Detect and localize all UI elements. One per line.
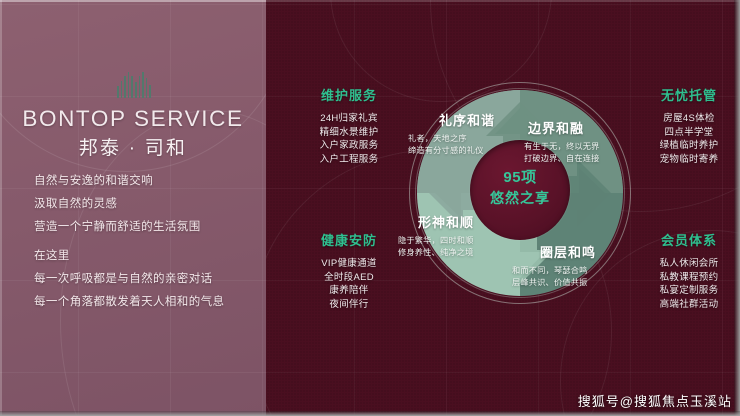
watermark: 搜狐号@搜狐焦点玉溪站 bbox=[578, 391, 732, 410]
quadrant-boundary-fusion: 边界和融 有生于无，终以无界 打破边界、自在连接 bbox=[524, 118, 644, 165]
service-item: 入户家政服务 bbox=[290, 139, 408, 153]
service-item: 入户工程服务 bbox=[290, 153, 408, 167]
service-block-maintenance: 维护服务 24H归家礼宾 精细水景维护 入户家政服务 入户工程服务 bbox=[290, 85, 408, 166]
service-item: 私教课程预约 bbox=[630, 271, 740, 285]
service-title: 无忧托管 bbox=[630, 85, 740, 104]
service-block-health-security: 健康安防 VIP健康通道 全时段AED 康养陪伴 夜间伴行 bbox=[290, 230, 408, 311]
quadrant-subtitle: 缔造有分寸感的礼仪 bbox=[408, 145, 526, 157]
service-item: 私宴定制服务 bbox=[630, 284, 740, 298]
service-block-membership: 会员体系 私人休闲会所 私教课程预约 私宴定制服务 高端社群活动 bbox=[630, 230, 740, 311]
service-item: 全时段AED bbox=[290, 271, 408, 285]
service-title: 会员体系 bbox=[630, 230, 740, 249]
service-title: 维护服务 bbox=[290, 85, 408, 104]
page-title-en: BONTOP SERVICE bbox=[0, 106, 266, 132]
service-item: 房屋4S体检 bbox=[630, 112, 740, 126]
intro-line: 每一次呼吸都是与自然的亲密对话 bbox=[34, 272, 260, 286]
quadrant-subtitle: 有生于无，终以无界 bbox=[524, 141, 644, 153]
panel-left-edge bbox=[0, 0, 2, 416]
quadrant-subtitle: 修身养性、纯净之境 bbox=[398, 247, 518, 259]
slide-right-edge bbox=[734, 0, 740, 416]
quadrant-form-spirit: 形神和顺 隐于繁华，四时和顺 修身养性、纯净之境 bbox=[398, 212, 518, 259]
page-title-cn: 邦泰 · 司和 bbox=[0, 133, 266, 160]
service-item: 绿植临时养护 bbox=[630, 139, 740, 153]
intro-line: 每一个角落都散发着天人相和的气息 bbox=[34, 295, 260, 309]
quadrant-subtitle: 层峰共识、价值共振 bbox=[512, 277, 634, 289]
quadrant-subtitle: 礼者，天地之序 bbox=[408, 133, 526, 145]
hub-label: 悠然之享 bbox=[470, 188, 570, 208]
quadrant-subtitle: 打破边界、自在连接 bbox=[524, 153, 644, 165]
slide-canvas: BONTOP SERVICE 邦泰 · 司和 自然与安逸的和谐交响 汲取自然的灵… bbox=[0, 0, 740, 416]
quadrant-title: 礼序和谐 bbox=[408, 110, 526, 129]
service-item: 夜间伴行 bbox=[290, 298, 408, 312]
gate-bars-icon bbox=[117, 70, 151, 98]
intro-line: 自然与安逸的和谐交响 bbox=[34, 174, 260, 188]
intro-line: 汲取自然的灵感 bbox=[34, 197, 260, 211]
hub-count: 95项 bbox=[470, 166, 570, 187]
service-item: 24H归家礼宾 bbox=[290, 112, 408, 126]
quadrant-ritual-harmony: 礼序和谐 礼者，天地之序 缔造有分寸感的礼仪 bbox=[408, 110, 526, 157]
service-item: 高端社群活动 bbox=[630, 298, 740, 312]
quadrant-title: 形神和顺 bbox=[398, 212, 518, 231]
service-item: 康养陪伴 bbox=[290, 284, 408, 298]
service-item: 精细水景维护 bbox=[290, 126, 408, 140]
service-title: 健康安防 bbox=[290, 230, 408, 249]
quadrant-subtitle: 隐于繁华，四时和顺 bbox=[398, 235, 518, 247]
service-item: 宠物临时寄养 bbox=[630, 153, 740, 167]
slide-bottom-edge bbox=[0, 411, 740, 416]
intro-line: 营造一个宁静而舒适的生活氛围 bbox=[34, 220, 260, 234]
intro-body: 自然与安逸的和谐交响 汲取自然的灵感 营造一个宁静而舒适的生活氛围 在这里 每一… bbox=[34, 174, 260, 318]
service-item: VIP健康通道 bbox=[290, 257, 408, 271]
slide-top-edge bbox=[0, 0, 740, 2]
quadrant-subtitle: 和而不同，琴瑟合鸣 bbox=[512, 265, 634, 277]
quadrant-title: 边界和融 bbox=[524, 118, 644, 137]
quadrant-circle-resonance: 圈层和鸣 和而不同，琴瑟合鸣 层峰共识、价值共振 bbox=[512, 242, 634, 289]
left-intro-panel: BONTOP SERVICE 邦泰 · 司和 自然与安逸的和谐交响 汲取自然的灵… bbox=[0, 0, 266, 416]
intro-line: 在这里 bbox=[34, 249, 260, 263]
service-item: 私人休闲会所 bbox=[630, 257, 740, 271]
service-item: 四点半学堂 bbox=[630, 126, 740, 140]
quadrant-title: 圈层和鸣 bbox=[512, 242, 634, 261]
service-block-worry-free-trust: 无忧托管 房屋4S体检 四点半学堂 绿植临时养护 宠物临时寄养 bbox=[630, 85, 740, 166]
